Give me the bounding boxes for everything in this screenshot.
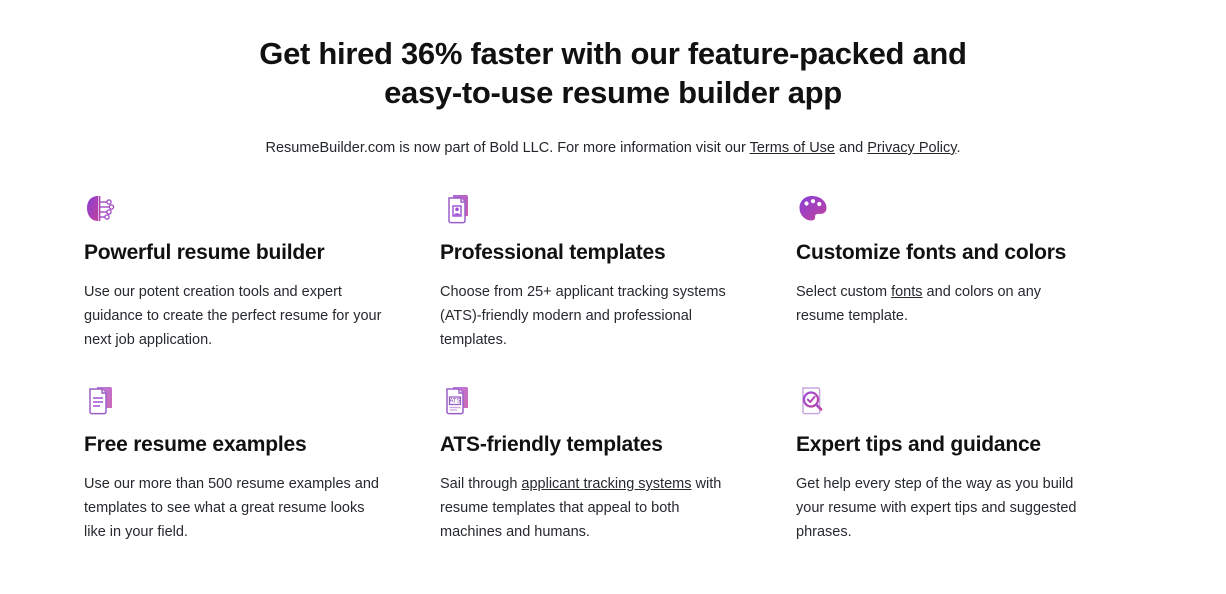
feature-description: Use our more than 500 resume examples an… bbox=[84, 472, 382, 544]
privacy-policy-link[interactable]: Privacy Policy bbox=[867, 140, 956, 156]
page-title: Get hired 36% faster with our feature-pa… bbox=[233, 34, 993, 112]
brain-circuit-icon bbox=[84, 192, 118, 226]
feature-description-prefix: Select custom bbox=[796, 284, 891, 300]
feature-card-customize-fonts-colors: Customize fonts and colors Select custom… bbox=[796, 192, 1142, 352]
fonts-link[interactable]: fonts bbox=[891, 284, 922, 300]
feature-card-expert-tips-guidance: Expert tips and guidance Get help every … bbox=[796, 352, 1142, 544]
legal-notice-suffix: . bbox=[956, 140, 960, 156]
feature-title: Expert tips and guidance bbox=[796, 432, 1084, 458]
feature-card-ats-friendly-templates: ATS ATS-friendly templates Sail through … bbox=[440, 352, 796, 544]
paint-palette-icon bbox=[796, 192, 830, 226]
document-person-template-icon bbox=[440, 192, 474, 226]
applicant-tracking-systems-link[interactable]: applicant tracking systems bbox=[521, 476, 691, 492]
feature-title: Powerful resume builder bbox=[84, 240, 382, 266]
feature-description: Choose from 25+ applicant tracking syste… bbox=[440, 280, 738, 352]
feature-title: Free resume examples bbox=[84, 432, 382, 458]
headline-line-2: easy-to-use resume builder app bbox=[384, 75, 842, 110]
document-ats-icon: ATS bbox=[440, 384, 474, 418]
terms-of-use-link[interactable]: Terms of Use bbox=[750, 140, 835, 156]
feature-card-free-resume-examples: Free resume examples Use our more than 5… bbox=[84, 352, 440, 544]
feature-description: Select custom fonts and colors on any re… bbox=[796, 280, 1084, 328]
document-lines-icon bbox=[84, 384, 118, 418]
ats-icon-label: ATS bbox=[449, 399, 460, 405]
legal-notice-prefix: ResumeBuilder.com is now part of Bold LL… bbox=[266, 140, 750, 156]
feature-card-powerful-resume-builder: Powerful resume builder Use our potent c… bbox=[84, 192, 440, 352]
feature-title: Customize fonts and colors bbox=[796, 240, 1084, 266]
feature-title: Professional templates bbox=[440, 240, 738, 266]
feature-description-prefix: Sail through bbox=[440, 476, 521, 492]
feature-card-professional-templates: Professional templates Choose from 25+ a… bbox=[440, 192, 796, 352]
features-grid: Powerful resume builder Use our potent c… bbox=[0, 192, 1226, 544]
landing-page: Get hired 36% faster with our feature-pa… bbox=[0, 0, 1226, 594]
feature-title: ATS-friendly templates bbox=[440, 432, 738, 458]
legal-notice-middle: and bbox=[835, 140, 867, 156]
magnifier-check-document-icon bbox=[796, 384, 830, 418]
hero-section: Get hired 36% faster with our feature-pa… bbox=[0, 0, 1226, 158]
feature-description: Sail through applicant tracking systems … bbox=[440, 472, 738, 544]
headline-line-1: Get hired 36% faster with our feature-pa… bbox=[259, 36, 966, 71]
legal-notice: ResumeBuilder.com is now part of Bold LL… bbox=[0, 138, 1226, 158]
feature-description: Use our potent creation tools and expert… bbox=[84, 280, 382, 352]
feature-description: Get help every step of the way as you bu… bbox=[796, 472, 1084, 544]
